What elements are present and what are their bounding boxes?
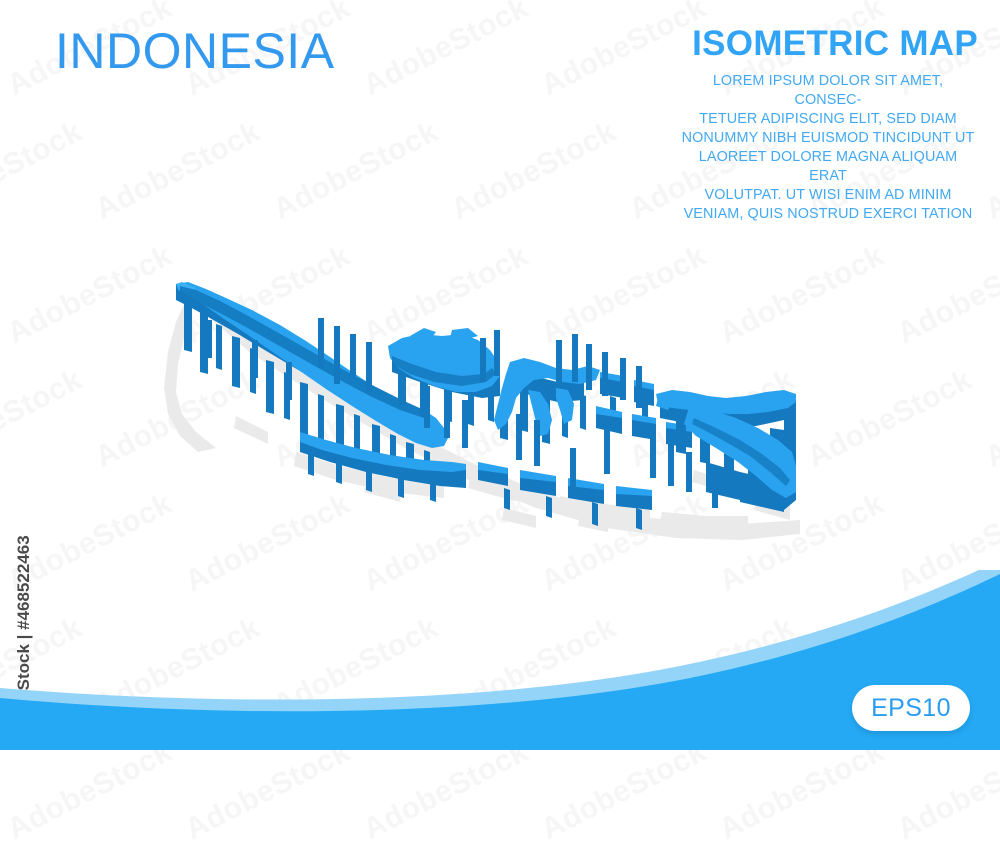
watermark-text: AdobeStock <box>536 735 712 847</box>
watermark-text: AdobeStock <box>358 735 534 847</box>
bottom-wave-svg <box>0 570 1000 750</box>
description-line-2: NONUMMY NIBH EUISMOD TINCIDUNT UT <box>678 129 978 148</box>
eps10-label: EPS10 <box>871 694 951 723</box>
watermark-text: AdobeStock <box>180 735 356 847</box>
description-line-1: TETUER ADIPISCING ELIT, SED DIAM <box>678 110 978 129</box>
header-right-block: ISOMETRIC MAP LOREM IPSUM DOLOR SIT AMET… <box>678 26 978 224</box>
watermark-text: AdobeStock <box>892 735 1000 847</box>
page-title: INDONESIA <box>55 24 335 79</box>
description-line-3: LAOREET DOLORE MAGNA ALIQUAM ERAT <box>678 148 978 186</box>
description-line-4: VOLUTPAT. UT WISI ENIM AD MINIM <box>678 186 978 205</box>
watermark-text: AdobeStock <box>714 735 890 847</box>
bottom-wave <box>0 570 1000 750</box>
description-line-0: LOREM IPSUM DOLOR SIT AMET, CONSEC- <box>678 72 978 110</box>
watermark-text: AdobeStock <box>2 735 178 847</box>
island-sulawesi <box>494 358 600 444</box>
wave-main-band <box>0 574 1000 750</box>
island-papua <box>656 390 796 512</box>
subtitle-title: ISOMETRIC MAP <box>678 26 978 63</box>
description-line-5: VENIAM, QUIS NOSTRUD EXERCI TATION <box>678 205 978 224</box>
description-paragraph: LOREM IPSUM DOLOR SIT AMET, CONSEC-TETUE… <box>678 72 978 224</box>
eps10-badge: EPS10 <box>852 685 970 731</box>
